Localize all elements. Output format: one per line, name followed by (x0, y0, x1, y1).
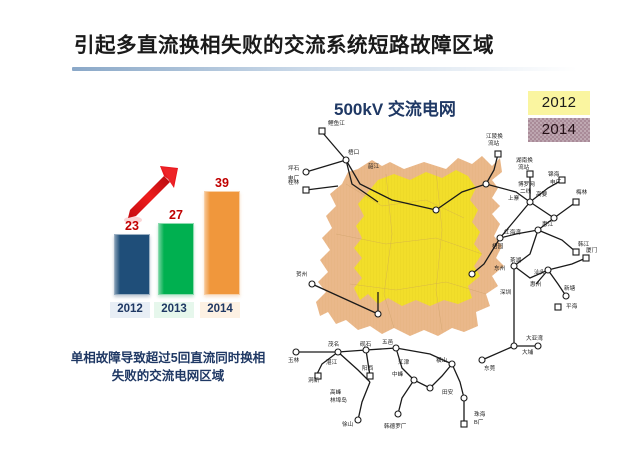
svg-text:横山: 横山 (436, 356, 447, 364)
svg-text:五邑: 五邑 (382, 339, 394, 346)
svg-text:玉林: 玉林 (288, 356, 300, 364)
svg-text:坪石: 坪石 (288, 164, 300, 172)
svg-text:田安: 田安 (442, 388, 454, 396)
svg-text:B厂: B厂 (474, 419, 484, 426)
svg-text:深圳: 深圳 (500, 288, 512, 296)
legend-2012: 2012 (528, 91, 590, 115)
svg-text:高要: 高要 (536, 190, 548, 198)
svg-text:汕头: 汕头 (534, 268, 546, 276)
chart-plot-area: 23 27 39 (96, 168, 266, 295)
bar-2013 (158, 223, 194, 295)
chart-caption: 单相故障导致超过5回直流同时换相 失败的交流电网区域 (50, 349, 286, 385)
svg-text:韩江: 韩江 (578, 240, 590, 248)
grid-map-panel: 500kV 交流电网 2012 2014 (286, 80, 638, 448)
svg-text:徐山: 徐山 (342, 420, 353, 428)
svg-text:洞新: 洞新 (308, 376, 320, 384)
svg-text:湛江: 湛江 (326, 359, 338, 366)
svg-text:东莞: 东莞 (484, 364, 496, 372)
bar-group-2012: 23 (112, 220, 152, 296)
svg-text:珠海: 珠海 (474, 410, 486, 418)
svg-text:东州: 东州 (494, 264, 505, 272)
svg-text:茶湖: 茶湖 (510, 256, 522, 264)
svg-text:大埔: 大埔 (522, 348, 534, 356)
bar-chart: 23 27 39 (96, 168, 266, 318)
bar-group-2013: 27 (156, 209, 196, 296)
slide-root: 引起多直流换相失败的交流系统短路故障区域 23 27 39 (0, 0, 640, 452)
bar-2012 (114, 234, 150, 295)
svg-text:新塘: 新塘 (564, 284, 576, 292)
svg-text:湖南换: 湖南换 (516, 156, 533, 164)
svg-text:平海: 平海 (566, 302, 578, 310)
bar-group-2014: 39 (202, 177, 242, 296)
svg-text:红海湾: 红海湾 (504, 228, 521, 236)
svg-text:博罗网: 博罗网 (518, 180, 535, 188)
chart-x-axis: 2012 2013 2014 (96, 298, 266, 318)
svg-text:惠江: 惠江 (542, 220, 554, 228)
caption-line-2: 失败的交流电网区域 (50, 367, 286, 385)
svg-text:中峰: 中峰 (392, 370, 404, 378)
svg-text:流站: 流站 (488, 139, 500, 147)
svg-text:韶江: 韶江 (368, 162, 380, 170)
bar-value-2014: 39 (215, 177, 229, 190)
bar-2014 (204, 191, 240, 295)
caption-line-1: 单相故障导致超过5回直流同时换相 (50, 349, 286, 367)
svg-text:桂林: 桂林 (288, 178, 300, 186)
svg-text:二线: 二线 (520, 187, 532, 195)
bar-value-2013: 27 (169, 209, 183, 222)
bar-value-2012: 23 (125, 220, 139, 233)
svg-text:阳西: 阳西 (362, 364, 374, 372)
svg-text:电厂: 电厂 (550, 178, 562, 186)
x-tick-2014: 2014 (200, 302, 240, 319)
title-divider (72, 67, 577, 71)
svg-text:上寨: 上寨 (508, 194, 520, 202)
svg-text:贺州: 贺州 (296, 270, 307, 278)
svg-text:江陵换: 江陵换 (486, 132, 503, 140)
svg-text:惠州: 惠州 (530, 280, 541, 288)
svg-text:厦门: 厦门 (586, 246, 598, 254)
svg-text:流站: 流站 (518, 163, 530, 171)
svg-text:茂名: 茂名 (328, 340, 339, 348)
svg-text:梅林: 梅林 (576, 188, 588, 196)
page-title: 引起多直流换相失败的交流系统短路故障区域 (74, 28, 594, 58)
svg-text:高峰: 高峰 (330, 388, 342, 396)
svg-text:砚石: 砚石 (360, 341, 372, 348)
svg-text:梧口: 梧口 (348, 148, 359, 156)
svg-text:锦海: 锦海 (548, 170, 560, 178)
x-tick-2013: 2013 (154, 302, 194, 319)
svg-text:大亚湾: 大亚湾 (526, 334, 543, 342)
x-tick-2012: 2012 (110, 302, 150, 319)
svg-text:韩德罗厂: 韩德罗厂 (384, 422, 407, 430)
svg-text:梧园: 梧园 (492, 242, 504, 250)
svg-text:林埠岛: 林埠岛 (330, 396, 347, 404)
map-canvas: 鲤鱼江 梧口 坪石 电厂 桂林 韶江 贺州 江陵换 流站 湖南换 流站 博罗网 … (286, 114, 638, 444)
svg-text:江津: 江津 (398, 359, 410, 366)
svg-text:鲤鱼江: 鲤鱼江 (328, 119, 345, 127)
